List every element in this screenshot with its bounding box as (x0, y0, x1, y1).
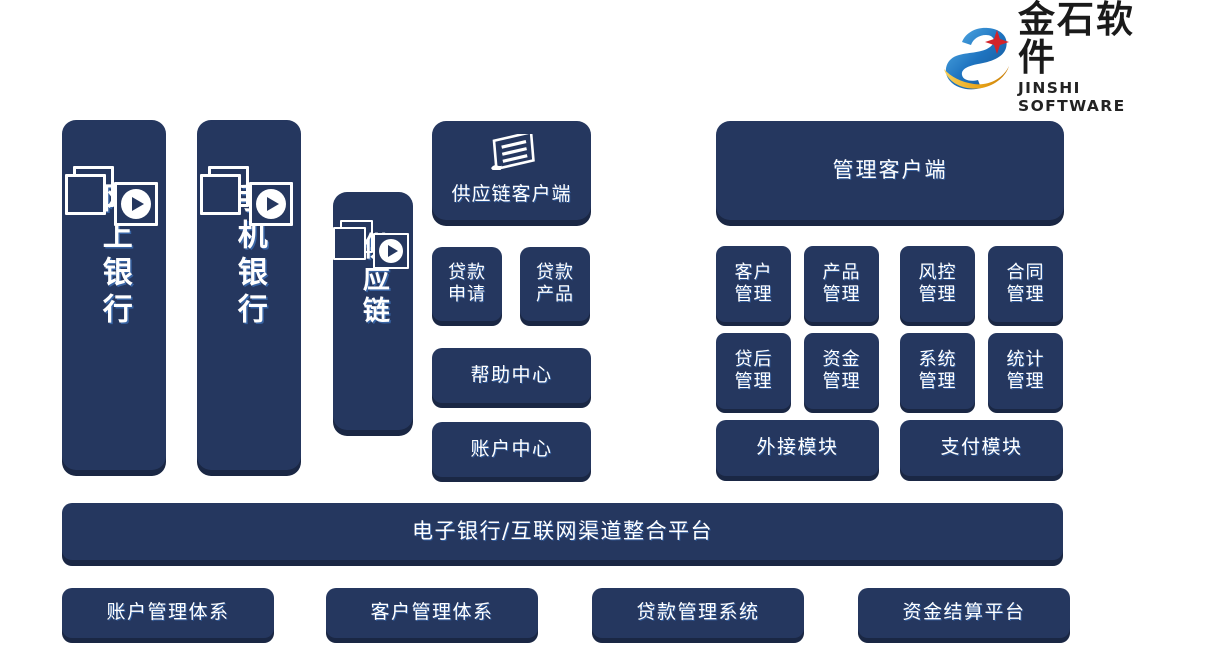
module-label-line1: 统计 (1007, 349, 1045, 370)
module-label-line2: 管理 (823, 371, 861, 392)
brand-logo: 金石软件 JINSHI SOFTWARE (940, 22, 1172, 94)
module-label: 支付模块 (940, 436, 1022, 460)
module-loan-application[interactable]: 贷款 申请 (432, 247, 502, 321)
foundation-label: 客户管理体系 (370, 601, 493, 625)
channel-card-supply-chain[interactable]: 供应链 (333, 192, 413, 430)
foundation-label: 账户管理体系 (106, 601, 229, 625)
module-account-center[interactable]: 账户中心 (432, 422, 591, 477)
module-label-line2: 管理 (1007, 284, 1045, 305)
supply-chain-client-title: 供应链客户端 (451, 183, 571, 207)
module-label-line1: 资金 (823, 349, 861, 370)
module-help-center[interactable]: 帮助中心 (432, 348, 591, 403)
jinshi-s-swoosh-logo-icon (940, 25, 1012, 91)
module-label-line1: 贷后 (735, 349, 773, 370)
admin-module-system-management[interactable]: 系统 管理 (900, 333, 975, 409)
module-label-line2: 产品 (536, 284, 574, 305)
module-loan-product[interactable]: 贷款 产品 (520, 247, 590, 321)
module-label-line1: 贷款 (536, 262, 574, 283)
channel-card-mobile-banking[interactable]: 手机银行 (197, 120, 301, 470)
admin-module-product-management[interactable]: 产品 管理 (804, 246, 879, 322)
brand-name-cn: 金石软件 (1018, 1, 1172, 76)
module-label-line2: 申请 (448, 284, 486, 305)
module-label-line1: 系统 (919, 349, 957, 370)
module-label-line1: 合同 (1007, 262, 1045, 283)
platform-integration-bar[interactable]: 电子银行/互联网渠道整合平台 (62, 503, 1063, 560)
admin-module-post-loan-management[interactable]: 贷后 管理 (716, 333, 791, 409)
admin-client-title: 管理客户端 (833, 157, 948, 183)
channel-card-online-banking[interactable]: 网上银行 (62, 120, 166, 470)
foundation-label: 资金结算平台 (902, 601, 1025, 625)
module-label: 外接模块 (756, 436, 838, 460)
module-label-line2: 管理 (735, 371, 773, 392)
module-label: 帮助中心 (470, 364, 552, 388)
module-label-line2: 管理 (1007, 371, 1045, 392)
foundation-loan-management-system[interactable]: 贷款管理系统 (592, 588, 804, 638)
supply-chain-client-card[interactable]: 供应链客户端 (432, 121, 591, 220)
module-label-line2: 管理 (919, 371, 957, 392)
module-label-line1: 产品 (823, 262, 861, 283)
diagram-canvas: 金石软件 JINSHI SOFTWARE 网上银行 手机银行 供应链 (0, 0, 1205, 669)
admin-module-statistics-management[interactable]: 统计 管理 (988, 333, 1063, 409)
foundation-account-management-system[interactable]: 账户管理体系 (62, 588, 274, 638)
admin-module-external-interface[interactable]: 外接模块 (716, 420, 879, 476)
admin-module-contract-management[interactable]: 合同 管理 (988, 246, 1063, 322)
foundation-fund-settlement-platform[interactable]: 资金结算平台 (858, 588, 1070, 638)
admin-client-header-card[interactable]: 管理客户端 (716, 121, 1064, 220)
module-label-line2: 管理 (823, 284, 861, 305)
admin-module-risk-management[interactable]: 风控 管理 (900, 246, 975, 322)
admin-module-payment[interactable]: 支付模块 (900, 420, 1063, 476)
document-lines-icon (485, 134, 539, 175)
module-label-line2: 管理 (919, 284, 957, 305)
admin-module-fund-management[interactable]: 资金 管理 (804, 333, 879, 409)
module-label-line1: 客户 (735, 262, 773, 283)
module-label-line1: 风控 (919, 262, 957, 283)
platform-label: 电子银行/互联网渠道整合平台 (412, 518, 713, 544)
module-label-line2: 管理 (735, 284, 773, 305)
brand-name-en: JINSHI SOFTWARE (1018, 79, 1172, 115)
module-label-line1: 贷款 (448, 262, 486, 283)
foundation-customer-management-system[interactable]: 客户管理体系 (326, 588, 538, 638)
module-label: 账户中心 (470, 438, 552, 462)
admin-module-customer-management[interactable]: 客户 管理 (716, 246, 791, 322)
brand-wordmark: 金石软件 JINSHI SOFTWARE (1018, 1, 1172, 115)
foundation-label: 贷款管理系统 (636, 601, 759, 625)
